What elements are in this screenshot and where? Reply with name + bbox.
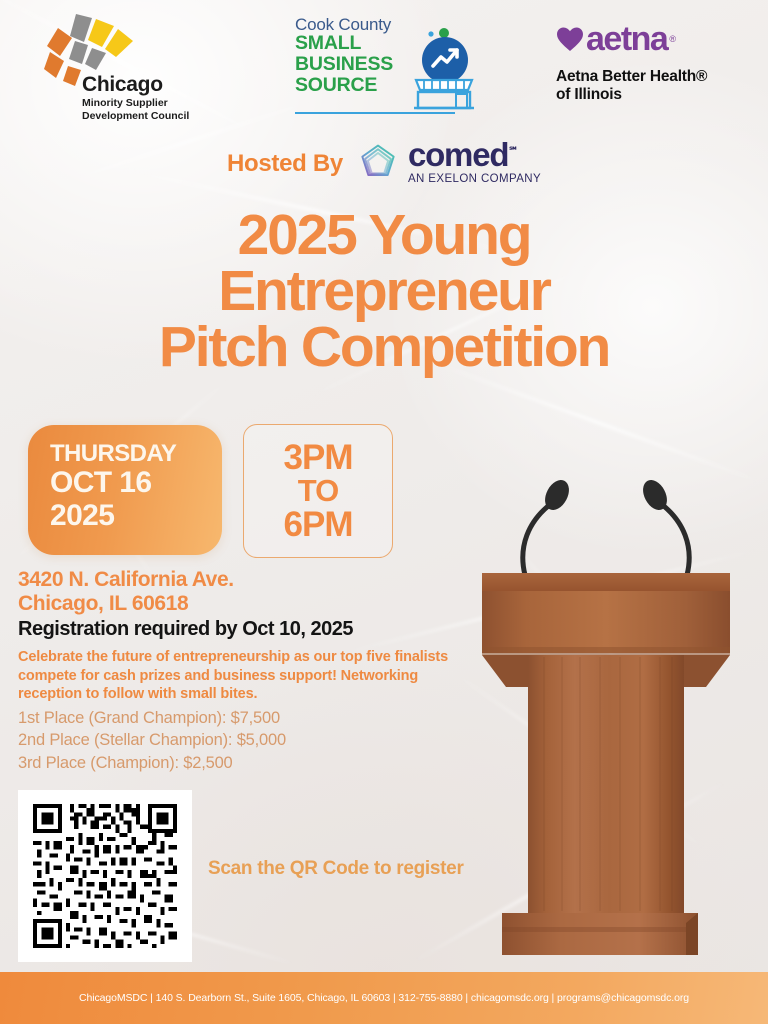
aetna-logo: aetna ® Aetna Better Health® of Illinois	[556, 22, 736, 122]
qr-code[interactable]	[18, 790, 192, 962]
date-badge: THURSDAY OCT 16 2025	[28, 425, 222, 555]
aetna-wordmark: aetna	[586, 22, 667, 56]
title-line-2: Entrepreneur	[0, 264, 768, 320]
msdc-city-label: Chicago	[82, 74, 222, 95]
cook-county-small-business-source-logo: Cook County SMALL BUSINESS SOURCE	[295, 16, 470, 116]
comed-logo: comed℠ AN EXELON COMPANY	[355, 140, 541, 187]
scan-qr-instruction: Scan the QR Code to register	[208, 858, 464, 880]
comed-tagline: AN EXELON COMPANY	[408, 173, 541, 185]
comed-star-icon	[355, 141, 401, 187]
registration-deadline: Registration required by Oct 10, 2025	[18, 618, 488, 641]
time-badge: 3PM TO 6PM	[243, 424, 393, 558]
venue-city-state-zip: Chicago, IL 60618	[18, 592, 488, 616]
msdc-subtitle-line2: Development Council	[82, 110, 222, 123]
title-line-1: 2025 Young	[0, 208, 768, 264]
footer-contact-text: ChicagoMSDC | 140 S. Dearborn St., Suite…	[79, 992, 689, 1004]
chicago-msdc-logo: Chicago Minority Supplier Development Co…	[34, 12, 214, 124]
time-start: 3PM	[284, 440, 353, 476]
comed-service-mark: ℠	[508, 146, 518, 157]
hosted-by-section: Hosted By comed℠	[0, 140, 768, 187]
prize-item-2: 2nd Place (Stellar Champion): $5,000	[18, 729, 438, 751]
time-end: 6PM	[284, 507, 353, 543]
sbs-underline-rule	[295, 112, 455, 115]
footer-bar: ChicagoMSDC | 140 S. Dearborn St., Suite…	[0, 972, 768, 1024]
title-line-3: Pitch Competition	[0, 320, 768, 376]
comed-wordmark: comed	[408, 136, 508, 173]
podium-front-panel	[482, 591, 730, 653]
podium-top-edge	[482, 573, 730, 591]
sponsor-logos-row: Chicago Minority Supplier Development Co…	[0, 0, 768, 130]
prize-list: 1st Place (Grand Champion): $7,500 2nd P…	[18, 707, 438, 774]
heart-icon	[556, 26, 584, 52]
date-month-day: OCT 16	[50, 467, 222, 499]
location-block: 3420 N. California Ave. Chicago, IL 6061…	[18, 568, 488, 641]
prize-item-1: 1st Place (Grand Champion): $7,500	[18, 707, 438, 729]
msdc-subtitle-line1: Minority Supplier	[82, 97, 222, 110]
venue-street: 3420 N. California Ave.	[18, 568, 488, 592]
storefront-icon	[398, 24, 476, 110]
aetna-better-health-line1: Aetna Better Health®	[556, 68, 736, 86]
qr-code-image	[29, 800, 181, 952]
aetna-better-health-line2: of Illinois	[556, 86, 736, 104]
date-weekday: THURSDAY	[50, 441, 222, 466]
event-description: Celebrate the future of entrepreneurship…	[18, 648, 468, 704]
event-flyer: Chicago Minority Supplier Development Co…	[0, 0, 768, 1024]
prize-item-3: 3rd Place (Champion): $2,500	[18, 752, 438, 774]
hosted-by-label: Hosted By	[227, 150, 343, 178]
event-title: 2025 Young Entrepreneur Pitch Competitio…	[0, 208, 768, 376]
microphone-left	[523, 476, 574, 575]
time-separator: TO	[298, 475, 339, 507]
podium-illustration	[440, 455, 768, 975]
aetna-registered-mark: ®	[669, 34, 676, 44]
microphone-right	[638, 476, 689, 575]
date-year: 2025	[50, 500, 222, 532]
